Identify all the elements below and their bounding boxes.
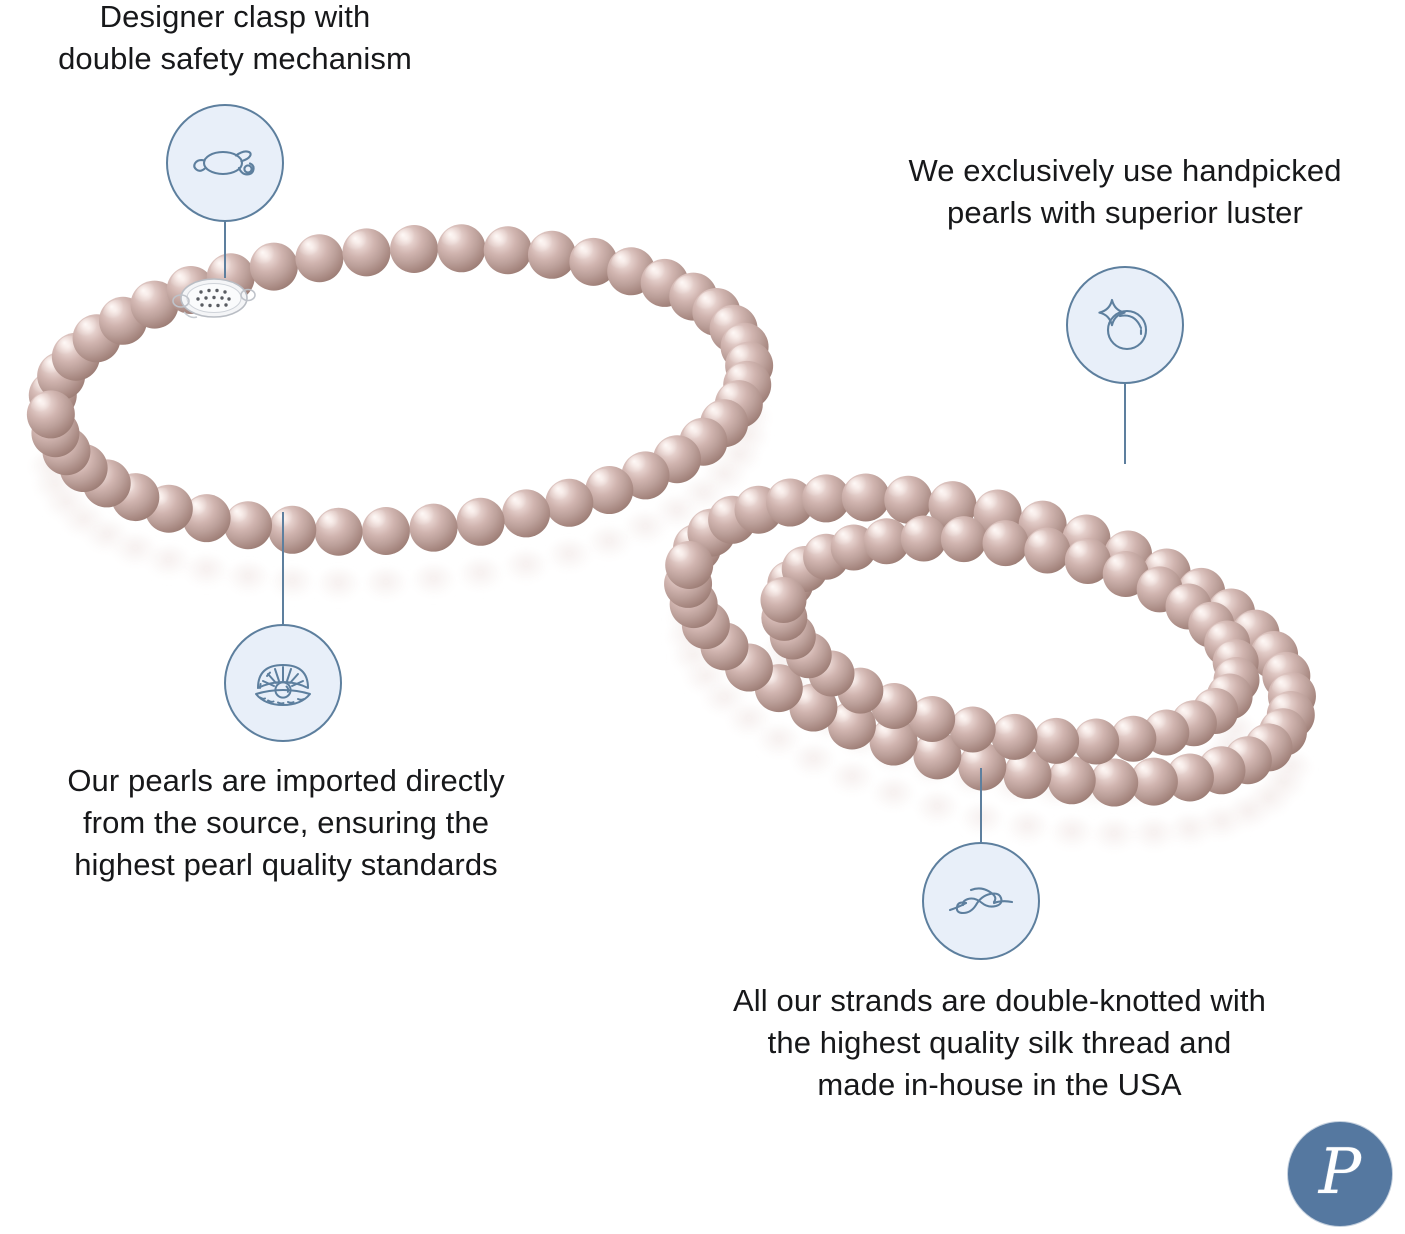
pearl-highlight [738,489,768,519]
badge-clasp [166,104,284,222]
pearl-highlight [394,228,424,258]
pearl-highlight [589,469,619,499]
pearl-highlight [103,300,133,330]
pearl-highlight [932,484,962,514]
pearl-highlight [1140,569,1169,598]
pearl-highlight [846,476,876,506]
oyster-shell-pearl-icon [246,646,320,720]
pearl-highlight [318,511,348,541]
pearl-highlight [134,283,164,313]
leader-line-oyster [282,512,284,626]
pearl-highlight [549,482,579,512]
pearl-highlight [1134,760,1164,790]
pearl-highlight [945,519,974,548]
pearl-highlight [986,523,1015,552]
caption-designer-clasp: Designer clasp with double safety mechan… [0,0,470,80]
pearl-highlight [764,580,793,609]
pearl-highlight [272,509,302,539]
clasp-icon [189,127,261,199]
pearl-highlight [995,717,1024,746]
pearl-highlight [913,699,942,728]
knotted-thread-icon [944,864,1018,938]
pearl-highlight [573,241,603,271]
pearl-highlight [904,518,933,547]
sparkle-pearl-icon [1090,290,1160,360]
pearl-highlight [834,527,863,556]
pearl-highlight [1028,530,1057,559]
caption-handpicked-luster: We exclusively use handpicked pearls wit… [845,150,1405,234]
pearl-highlight [299,237,329,267]
pearl-highlight [1077,721,1106,750]
badge-oyster [224,624,342,742]
pearl-highlight [1037,721,1066,750]
infographic-stage: Designer clasp with double safety mechan… [0,0,1405,1234]
pearl-brand-logo[interactable]: P [1288,1122,1392,1226]
pearl-highlight [978,492,1008,522]
logo-glyph: P [1319,1140,1361,1203]
badge-luster [1066,266,1184,384]
pearl-highlight [888,479,918,509]
pearl-highlight [506,492,536,522]
pearl-highlight [31,393,61,423]
pearl-highlight [645,262,675,292]
pearl-highlight [669,544,699,574]
leader-line-knot [980,768,982,844]
pearl-highlight [488,229,518,259]
pearl-highlight [1094,761,1124,791]
badge-knot [922,842,1040,960]
necklace-clasp [168,268,260,328]
pearl-highlight [441,227,471,257]
pearl-highlight [1069,541,1098,570]
caption-double-knotted: All our strands are double-knotted with … [612,980,1387,1106]
pearl-highlight [532,234,562,264]
pearl-highlight [413,507,443,537]
pearl-highlight [346,231,376,261]
caption-imported-directly: Our pearls are imported directly from th… [0,760,572,886]
pearl-highlight [460,501,490,531]
leader-line-luster [1124,382,1126,464]
pearl-highlight [1106,554,1135,583]
pearl-highlight [228,504,258,534]
pearl-highlight [366,510,396,540]
pearl-highlight [806,477,836,507]
leader-line-clasp [224,220,226,278]
pearl-highlight [867,521,896,550]
pearl-highlight [770,481,800,511]
pearl-highlight [953,709,982,738]
pearl-highlight [611,250,641,280]
